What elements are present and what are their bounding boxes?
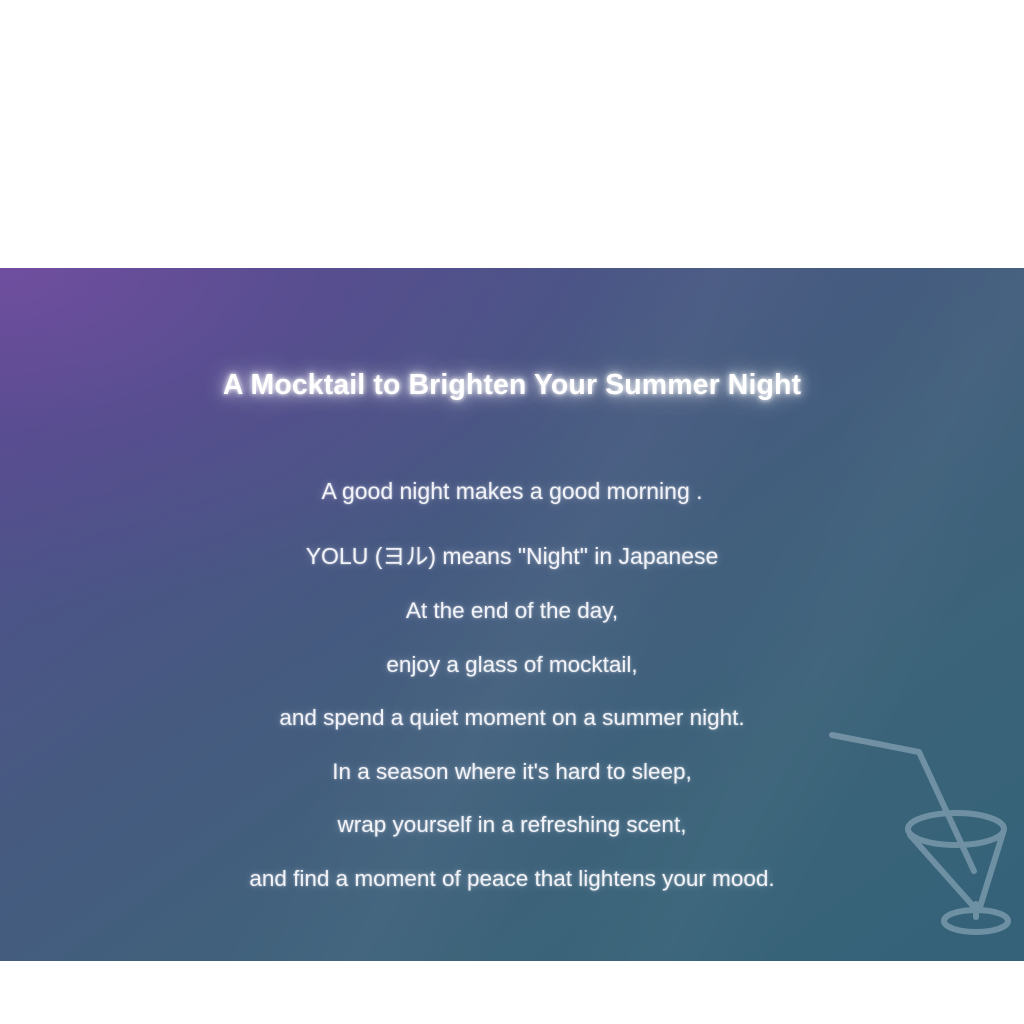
stanza-line: and spend a quiet moment on a summer nig… <box>0 691 1024 745</box>
bottom-whitespace <box>0 961 1024 1024</box>
page-root: A Mocktail to Brighten Your Summer Night… <box>0 0 1024 1024</box>
hero-copy: A Mocktail to Brighten Your Summer Night… <box>0 268 1024 961</box>
description-stanza: At the end of the day, enjoy a glass of … <box>0 584 1024 905</box>
stanza-line: enjoy a glass of mocktail, <box>0 638 1024 692</box>
stanza-line: and find a moment of peace that lightens… <box>0 852 1024 906</box>
tagline-primary: A good night makes a good morning . <box>0 477 1024 506</box>
page-title: A Mocktail to Brighten Your Summer Night <box>0 368 1024 402</box>
stanza-line: wrap yourself in a refreshing scent, <box>0 798 1024 852</box>
hero-banner: A Mocktail to Brighten Your Summer Night… <box>0 268 1024 961</box>
top-whitespace <box>0 0 1024 268</box>
stanza-line: In a season where it's hard to sleep, <box>0 745 1024 799</box>
stanza-line: At the end of the day, <box>0 584 1024 638</box>
tagline-brand-meaning: YOLU (ヨル) means "Night" in Japanese <box>0 542 1024 571</box>
